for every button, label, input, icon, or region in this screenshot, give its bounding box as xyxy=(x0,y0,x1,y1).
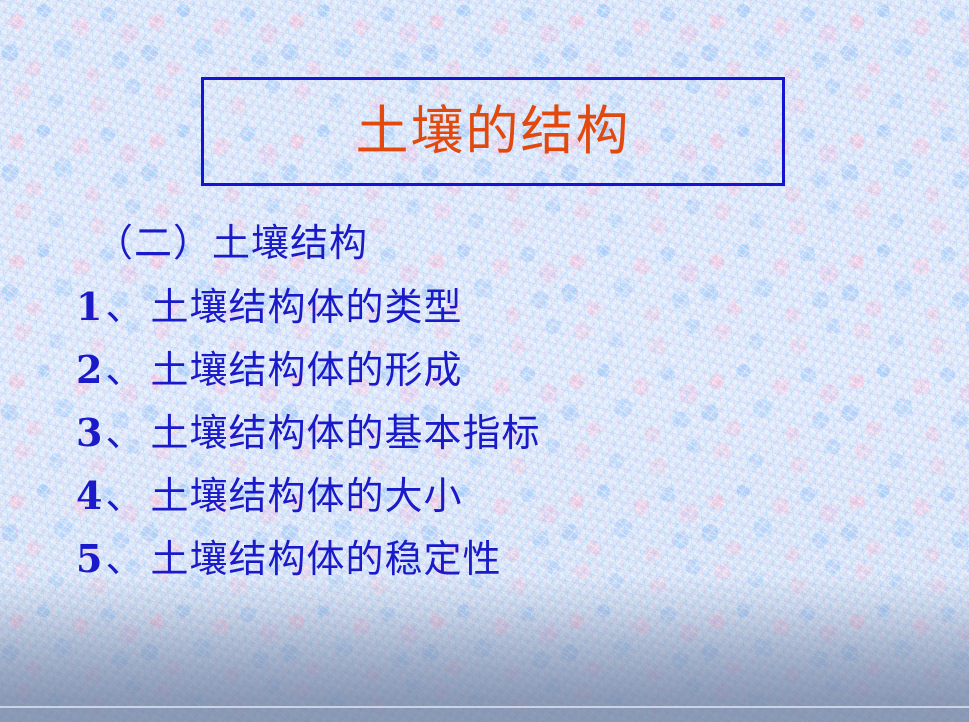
list-item-label: 土壤结构体的基本指标 xyxy=(150,411,540,455)
list-item: 2、土壤结构体的形成 xyxy=(0,338,969,401)
list-item-label: 土壤结构体的稳定性 xyxy=(150,537,501,581)
slide-content-list: （二）土壤结构 1、土壤结构体的类型 2、土壤结构体的形成 3、土壤结构体的基本… xyxy=(0,212,969,590)
list-item: 1、土壤结构体的类型 xyxy=(0,275,969,338)
list-item-separator: 、 xyxy=(105,285,150,329)
list-item-number: 4 xyxy=(76,473,105,518)
list-item-label: 土壤结构体的大小 xyxy=(150,474,462,518)
list-item-separator: 、 xyxy=(105,474,150,518)
list-item-separator: 、 xyxy=(105,537,150,581)
slide-title: 土壤的结构 xyxy=(356,105,631,158)
list-item-label: 土壤结构体的形成 xyxy=(150,348,462,392)
presentation-slide: 土壤的结构 （二）土壤结构 1、土壤结构体的类型 2、土壤结构体的形成 3、土壤… xyxy=(0,0,969,722)
list-item: 3、土壤结构体的基本指标 xyxy=(0,401,969,464)
list-item-number: 5 xyxy=(76,536,105,581)
list-item: 4、土壤结构体的大小 xyxy=(0,464,969,527)
list-item-label: 土壤结构体的类型 xyxy=(150,285,462,329)
list-item-separator: 、 xyxy=(105,348,150,392)
slide-bottom-divider xyxy=(0,706,969,708)
list-item-number: 2 xyxy=(76,347,105,392)
list-item-number: 3 xyxy=(76,410,105,455)
list-item-separator: 、 xyxy=(105,411,150,455)
title-frame: 土壤的结构 xyxy=(201,77,785,186)
section-heading: （二）土壤结构 xyxy=(0,212,969,275)
list-item-number: 1 xyxy=(76,284,105,329)
list-item: 5、土壤结构体的稳定性 xyxy=(0,527,969,590)
